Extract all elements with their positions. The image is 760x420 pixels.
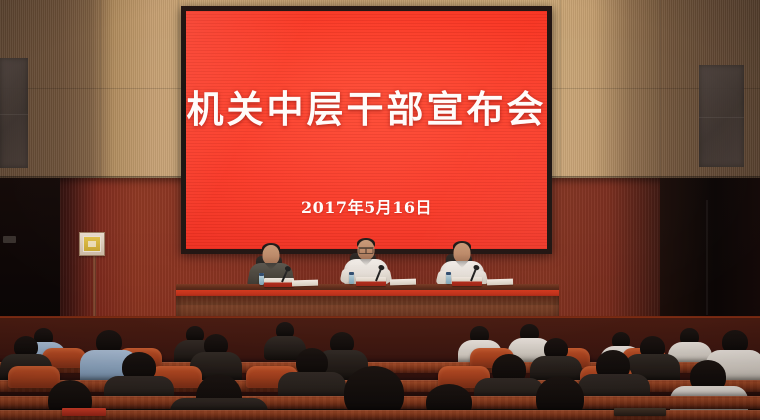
alcove-left bbox=[0, 178, 60, 323]
screen-date-text: 2017年5月16日 bbox=[186, 194, 547, 218]
alcove-right bbox=[660, 178, 760, 323]
notice-sign-face bbox=[83, 236, 101, 252]
conference-hall-photo: 机关中层干部宣布会 2017年5月16日 bbox=[0, 0, 760, 420]
water-bottle bbox=[446, 272, 451, 284]
water-bottle bbox=[349, 272, 354, 284]
sign-pole bbox=[93, 252, 96, 320]
door-edge-line bbox=[706, 200, 708, 315]
audience-seat bbox=[8, 366, 60, 388]
wall-seam-vertical bbox=[660, 0, 661, 178]
wall-seam-vertical bbox=[100, 0, 101, 178]
nameplate-left bbox=[264, 278, 294, 287]
nameplate-right bbox=[452, 277, 482, 286]
acoustic-panel-left bbox=[0, 58, 28, 168]
papers-right bbox=[487, 279, 513, 286]
papers-left bbox=[292, 280, 318, 287]
papers-center bbox=[390, 279, 416, 286]
wall-seam-vertical bbox=[178, 0, 179, 178]
nameplate-center bbox=[356, 277, 386, 286]
wall-seam-vertical bbox=[560, 0, 561, 178]
audience-area bbox=[0, 318, 760, 420]
notebook-dark bbox=[614, 408, 666, 416]
led-screen: 机关中层干部宣布会 2017年5月16日 bbox=[186, 11, 547, 249]
notebook-red bbox=[62, 408, 106, 416]
notice-sign bbox=[79, 232, 105, 256]
acoustic-panel-right bbox=[699, 65, 744, 167]
notice-sign-label bbox=[88, 241, 96, 247]
screen-title-text: 机关中层干部宣布会 bbox=[186, 91, 547, 128]
wall-switch-plate bbox=[3, 236, 16, 243]
